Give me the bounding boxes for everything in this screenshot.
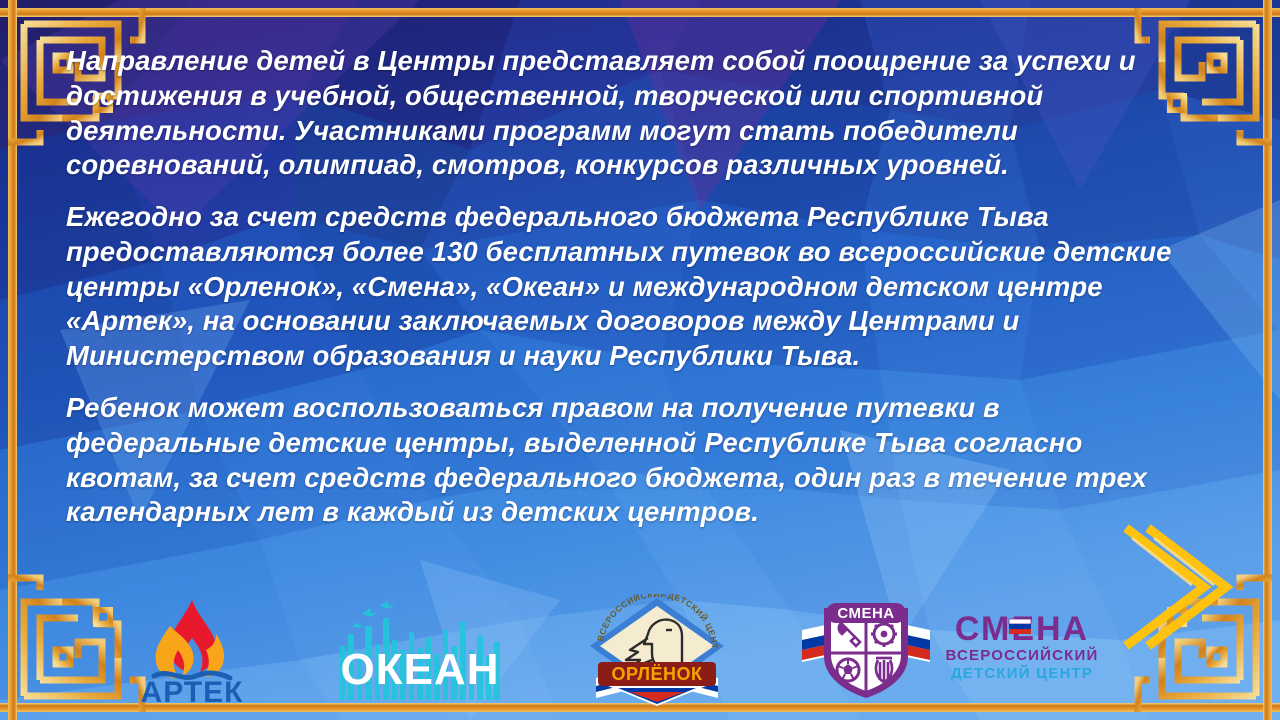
smena-shield-wordmark-plate: СМЕНА — [826, 603, 906, 623]
partner-logo-strip: АРТЕК — [120, 594, 1130, 706]
smena-flag-accent — [1009, 619, 1031, 634]
artek-wordmark: АРТЕК — [141, 676, 244, 706]
double-chevron-right-icon — [1108, 512, 1258, 662]
smena-subline-1: ВСЕРОССИЙСКИЙ — [946, 646, 1099, 664]
orlenok-chevron-base — [608, 686, 706, 706]
presentation-slide: Направление детей в Центры представляет … — [0, 0, 1280, 720]
paragraph-3: Ребенок может воспользоваться правом на … — [66, 391, 1180, 530]
okean-logo: ОКЕАН — [316, 600, 516, 700]
orlenok-wordmark: ОРЛЁНОК — [611, 664, 703, 684]
smena-wordmark-logo: СМЕНА ВСЕРОССИЙСКИЙ ДЕТСКИЙ ЦЕНТР — [932, 608, 1112, 688]
slide-text-body: Направление детей в Центры представляет … — [66, 44, 1180, 530]
smena-shield-logo: СМЕНА — [800, 594, 932, 702]
orlenok-logo: ВСЕРОССИЙСКИЙ ДЕТСКИЙ ЦЕНТР ОРЛЁНОК — [582, 594, 732, 706]
okean-wordmark: ОКЕАН — [341, 645, 500, 694]
smena-subline-2: ДЕТСКИЙ ЦЕНТР — [951, 664, 1093, 682]
frame-border-top — [0, 8, 1280, 17]
artek-logo: АРТЕК — [130, 596, 255, 706]
paragraph-1: Направление детей в Центры представляет … — [66, 44, 1180, 183]
paragraph-2: Ежегодно за счет средств федерального бю… — [66, 200, 1180, 374]
orlenok-banner: ОРЛЁНОК — [598, 662, 716, 686]
artek-flame-icon — [156, 600, 224, 678]
smena-shield-wordmark: СМЕНА — [837, 605, 894, 622]
